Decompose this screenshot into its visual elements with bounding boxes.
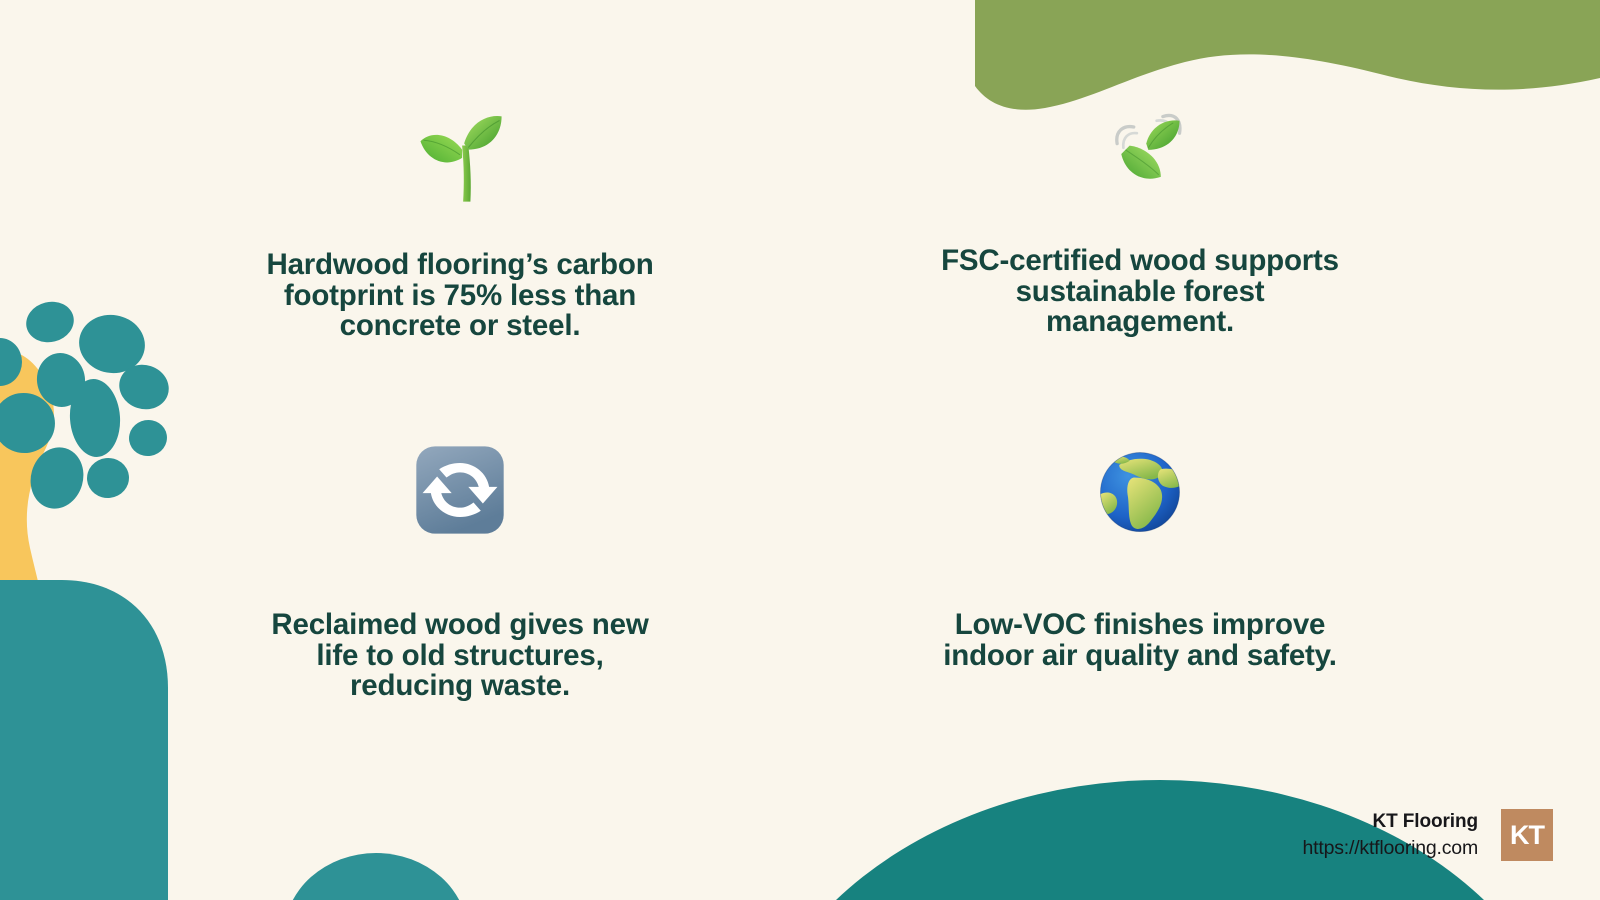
fact-card-fsc-certified: FSC-certified wood supports sustainable … <box>800 70 1480 410</box>
fact-text: Low-VOC finishes improve indoor air qual… <box>943 610 1336 671</box>
brand-block: KT Flooring https://ktflooring.com KT <box>1302 804 1558 866</box>
brand-url[interactable]: https://ktflooring.com <box>1302 836 1478 860</box>
brand-logo-text: KT <box>1501 809 1553 861</box>
fact-card-carbon-footprint: Hardwood flooring’s carbon footprint is … <box>120 70 800 410</box>
seedling-icon <box>408 108 512 212</box>
leaves-fluttering-icon <box>1088 102 1192 206</box>
fact-text: Reclaimed wood gives new life to old str… <box>271 610 648 702</box>
fact-text: Hardwood flooring’s carbon footprint is … <box>266 250 653 342</box>
infographic-poster: Hardwood flooring’s carbon footprint is … <box>0 0 1600 900</box>
facts-grid: Hardwood flooring’s carbon footprint is … <box>0 0 1600 900</box>
brand-name: KT Flooring <box>1373 810 1479 834</box>
fact-card-reclaimed-wood: Reclaimed wood gives new life to old str… <box>120 410 800 750</box>
brand-text-group: KT Flooring https://ktflooring.com <box>1302 810 1478 860</box>
recycle-arrows-icon <box>408 438 512 542</box>
fact-text: FSC-certified wood supports sustainable … <box>941 246 1339 338</box>
brand-logo: KT <box>1496 804 1558 866</box>
fact-card-low-voc: Low-VOC finishes improve indoor air qual… <box>800 410 1480 750</box>
globe-europe-africa-icon <box>1088 438 1192 542</box>
